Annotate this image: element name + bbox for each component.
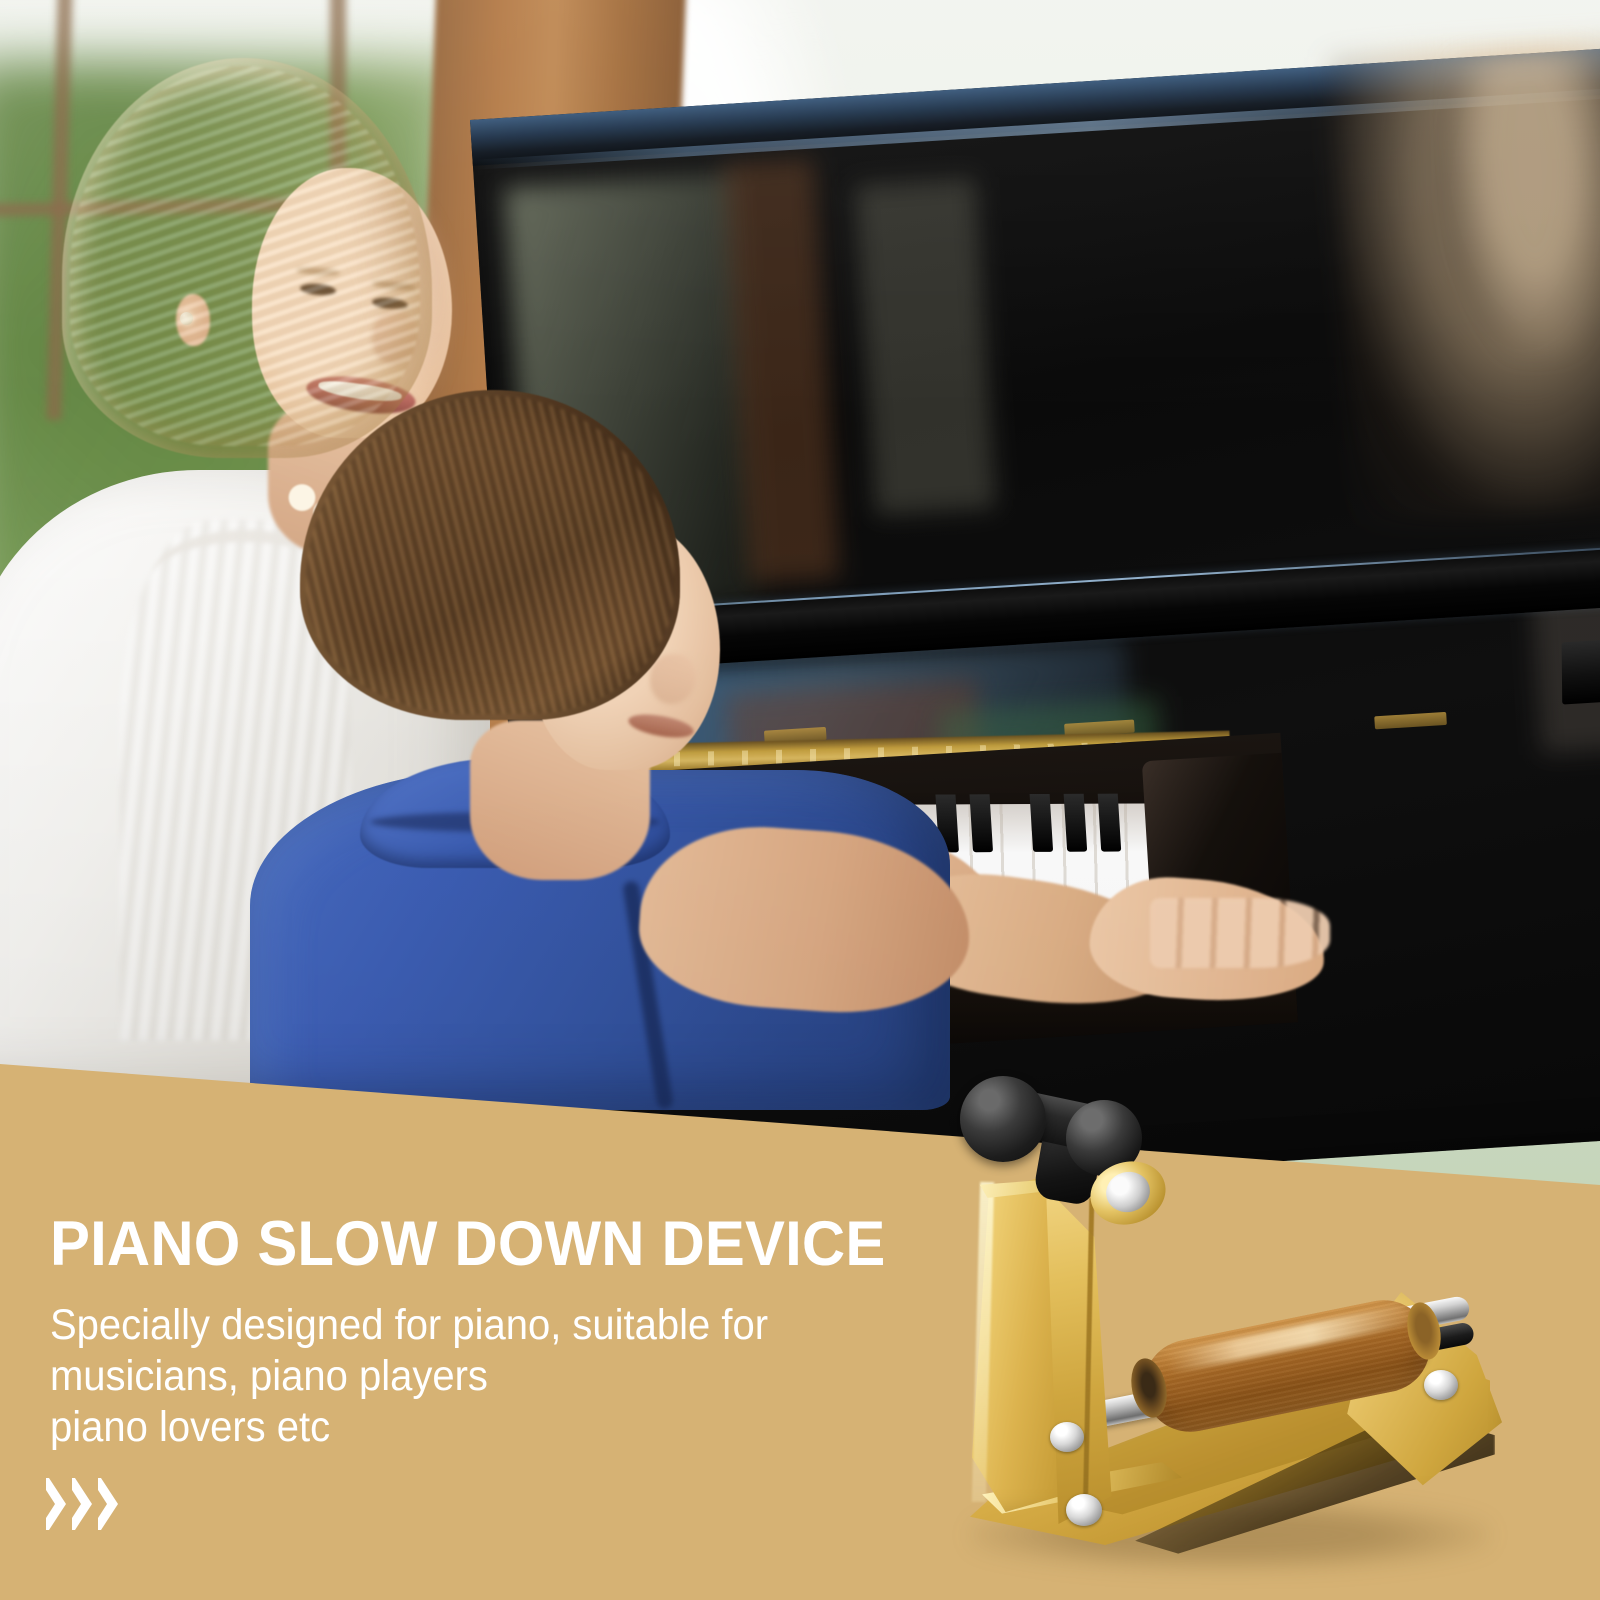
product-image-piano-slow-down-device xyxy=(930,1070,1570,1590)
product-banner-page: PIANO SLOW DOWN DEVICE Specially designe… xyxy=(0,0,1600,1600)
black-knob-disc xyxy=(960,1076,1046,1162)
lifestyle-photo xyxy=(0,0,1600,1210)
piano-hinge xyxy=(1374,712,1447,729)
chevron-right-icon xyxy=(46,1478,72,1530)
promo-subtitle: Specially designed for piano, suitable f… xyxy=(50,1300,768,1453)
steel-screw xyxy=(1050,1422,1084,1452)
piano-reflection xyxy=(855,178,995,515)
steel-screw xyxy=(1066,1494,1102,1526)
page-title: PIANO SLOW DOWN DEVICE xyxy=(50,1213,885,1276)
piano-reflection xyxy=(1448,49,1600,358)
chevron-right-icon xyxy=(72,1478,98,1530)
steel-screw xyxy=(1424,1370,1458,1400)
chevron-right-icon xyxy=(98,1478,124,1530)
woman-fingers xyxy=(1150,898,1330,968)
triple-chevron-right-icon xyxy=(46,1478,166,1538)
